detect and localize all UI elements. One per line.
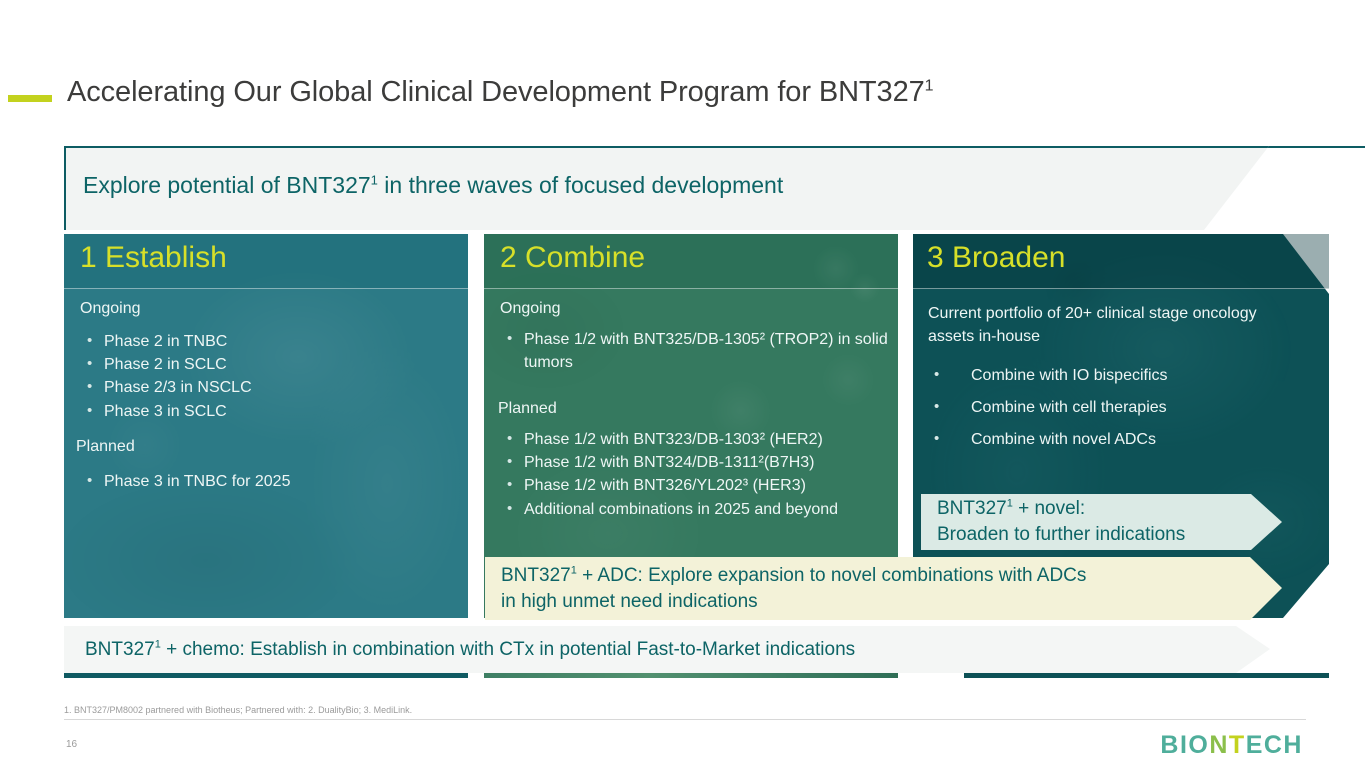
- banner-novel-line1-a: BNT327: [937, 498, 1007, 519]
- waves-diagram: Explore potential of BNT3271 in three wa…: [64, 146, 1365, 684]
- list-item: Combine with novel ADCs: [925, 424, 1315, 456]
- banner-chemo: BNT3271 + chemo: Establish in combinatio…: [64, 626, 1270, 673]
- group-label-planned: Planned: [498, 400, 557, 418]
- column-accent-bar-broaden: [964, 673, 1329, 678]
- logo-part-bio: BIO: [1160, 731, 1209, 760]
- wave-column-broaden-title: 3 Broaden: [927, 241, 1065, 275]
- list-item: Phase 1/2 with BNT323/DB-1303² (HER2): [502, 428, 892, 451]
- logo-part-n: N: [1209, 731, 1229, 760]
- page-title-text: Accelerating Our Global Clinical Develop…: [67, 76, 925, 108]
- banner-adc-line2: in high unmet need indications: [501, 591, 758, 612]
- ongoing-list: Phase 2 in TNBC Phase 2 in SCLC Phase 2/…: [82, 330, 452, 423]
- banner-novel-line2: Broaden to further indications: [937, 524, 1185, 545]
- header-band-text: Explore potential of BNT3271 in three wa…: [83, 172, 783, 199]
- header-band-text-b: in three waves of focused development: [378, 172, 783, 198]
- banner-chemo-line1-b: + chemo: Establish in combination with C…: [161, 639, 855, 660]
- banner-chemo-text: BNT3271 + chemo: Establish in combinatio…: [85, 637, 855, 663]
- banner-adc-line1-b: + ADC: Explore expansion to novel combin…: [577, 565, 1087, 586]
- list-item: Phase 2 in SCLC: [82, 353, 452, 376]
- column-accent-bar-combine: [484, 673, 898, 678]
- banner-novel-text: BNT3271 + novel: Broaden to further indi…: [937, 496, 1185, 547]
- list-item: Phase 3 in SCLC: [82, 400, 452, 423]
- title-accent-bar: [8, 95, 52, 102]
- list-item: Phase 2 in TNBC: [82, 330, 452, 353]
- ongoing-list: Phase 1/2 with BNT325/DB-1305² (TROP2) i…: [502, 328, 888, 374]
- list-item: Phase 1/2 with BNT325/DB-1305² (TROP2) i…: [502, 328, 888, 374]
- list-item: Combine with cell therapies: [925, 392, 1315, 424]
- wave-column-establish: 1 Establish Ongoing Phase 2 in TNBC Phas…: [64, 234, 468, 618]
- header-band-text-a: Explore potential of BNT327: [83, 172, 371, 198]
- banner-novel: BNT3271 + novel: Broaden to further indi…: [921, 494, 1282, 550]
- wave-column-combine-header: 2 Combine: [484, 234, 898, 289]
- wave-column-broaden-header: 3 Broaden: [913, 234, 1329, 289]
- wave-column-establish-title: 1 Establish: [80, 241, 227, 275]
- logo-part-ech: ECH: [1246, 731, 1303, 760]
- banner-adc-text: BNT3271 + ADC: Explore expansion to nove…: [501, 563, 1086, 614]
- list-item: Combine with IO bispecifics: [925, 360, 1315, 392]
- planned-list: Phase 1/2 with BNT323/DB-1303² (HER2) Ph…: [502, 428, 892, 521]
- page-title-footnote-marker: 1: [925, 77, 934, 94]
- banner-adc: BNT3271 + ADC: Explore expansion to nove…: [485, 557, 1282, 620]
- banner-chemo-line1-a: BNT327: [85, 639, 155, 660]
- column-accent-bar-establish: [64, 673, 468, 678]
- list-item: Phase 1/2 with BNT326/YL202³ (HER3): [502, 474, 892, 497]
- slide-canvas: Accelerating Our Global Clinical Develop…: [0, 0, 1365, 768]
- list-item: Phase 3 in TNBC for 2025: [82, 470, 452, 493]
- wave-column-establish-header: 1 Establish: [64, 234, 468, 289]
- logo-part-t: T: [1229, 731, 1246, 760]
- page-number: 16: [66, 739, 77, 750]
- group-label-ongoing: Ongoing: [500, 300, 561, 318]
- biontech-logo: BIONTECH: [1160, 731, 1303, 760]
- broaden-list: Combine with IO bispecifics Combine with…: [925, 360, 1315, 456]
- broaden-intro-text: Current portfolio of 20+ clinical stage …: [928, 302, 1273, 348]
- header-band-left-rule: [64, 146, 66, 230]
- group-label-planned: Planned: [76, 438, 135, 456]
- footer-divider: [64, 719, 1306, 720]
- header-band-footnote-marker: 1: [371, 172, 378, 187]
- banner-adc-line1-a: BNT327: [501, 565, 571, 586]
- wave-column-combine-title: 2 Combine: [500, 241, 645, 275]
- banner-novel-line1-b: + novel:: [1013, 498, 1085, 519]
- page-title: Accelerating Our Global Clinical Develop…: [67, 76, 1267, 109]
- wave-column-establish-body: Ongoing Phase 2 in TNBC Phase 2 in SCLC …: [64, 288, 468, 618]
- list-item: Additional combinations in 2025 and beyo…: [502, 498, 892, 521]
- list-item: Phase 2/3 in NSCLC: [82, 376, 452, 399]
- planned-list: Phase 3 in TNBC for 2025: [82, 470, 452, 493]
- footnote-text: 1. BNT327/PM8002 partnered with Biotheus…: [64, 705, 412, 715]
- group-label-ongoing: Ongoing: [80, 300, 141, 318]
- list-item: Phase 1/2 with BNT324/DB-1311²(B7H3): [502, 451, 892, 474]
